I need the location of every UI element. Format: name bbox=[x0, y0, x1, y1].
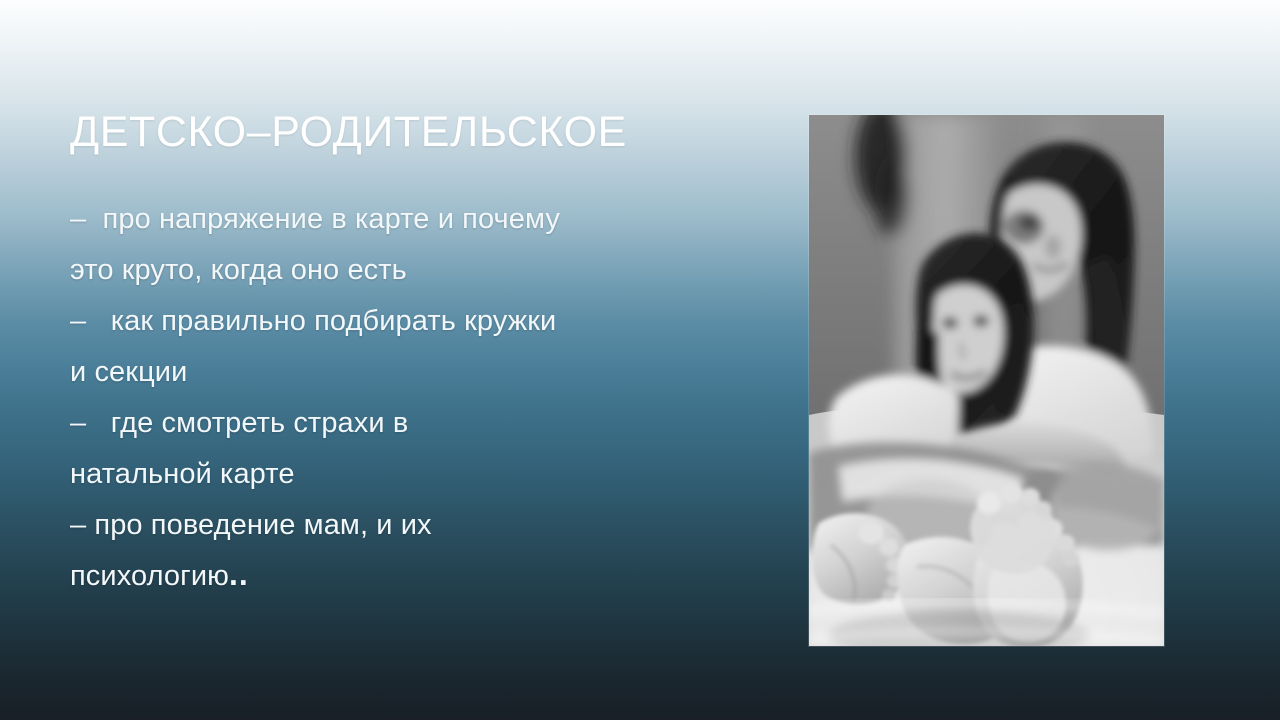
list-item: и секции bbox=[70, 346, 730, 397]
list-item: психологию.. bbox=[70, 550, 730, 601]
list-item-text: это круто, когда оно есть bbox=[70, 254, 407, 286]
list-item-text: – где смотреть страхи в bbox=[70, 407, 408, 439]
page-title: ДЕТСКО–РОДИТЕЛЬСКОЕ bbox=[70, 110, 730, 155]
mother-and-child-photo-illustration bbox=[809, 115, 1164, 646]
slide-photo bbox=[809, 115, 1164, 646]
list-item-text: – как правильно подбирать кружки bbox=[70, 305, 556, 337]
list-item: это круто, когда оно есть bbox=[70, 244, 730, 295]
list-item: – как правильно подбирать кружки bbox=[70, 295, 730, 346]
list-item-text: и секции bbox=[70, 356, 187, 388]
list-item-text: натальной карте bbox=[70, 458, 295, 490]
list-item-text: психологию bbox=[70, 560, 229, 592]
list-item: – про напряжение в карте и почему bbox=[70, 193, 730, 244]
slide-text-column: ДЕТСКО–РОДИТЕЛЬСКОЕ – про напряжение в к… bbox=[70, 110, 730, 601]
list-item: натальной карте bbox=[70, 448, 730, 499]
list-item: – про поведение мам, и их bbox=[70, 499, 730, 550]
list-item-tail: .. bbox=[229, 556, 249, 592]
presentation-slide: ДЕТСКО–РОДИТЕЛЬСКОЕ – про напряжение в к… bbox=[0, 0, 1280, 720]
list-item-text: – про поведение мам, и их bbox=[70, 509, 432, 541]
bullet-list: – про напряжение в карте и почему это кр… bbox=[70, 193, 730, 601]
list-item-text: – про напряжение в карте и почему bbox=[70, 203, 560, 235]
list-item: – где смотреть страхи в bbox=[70, 397, 730, 448]
